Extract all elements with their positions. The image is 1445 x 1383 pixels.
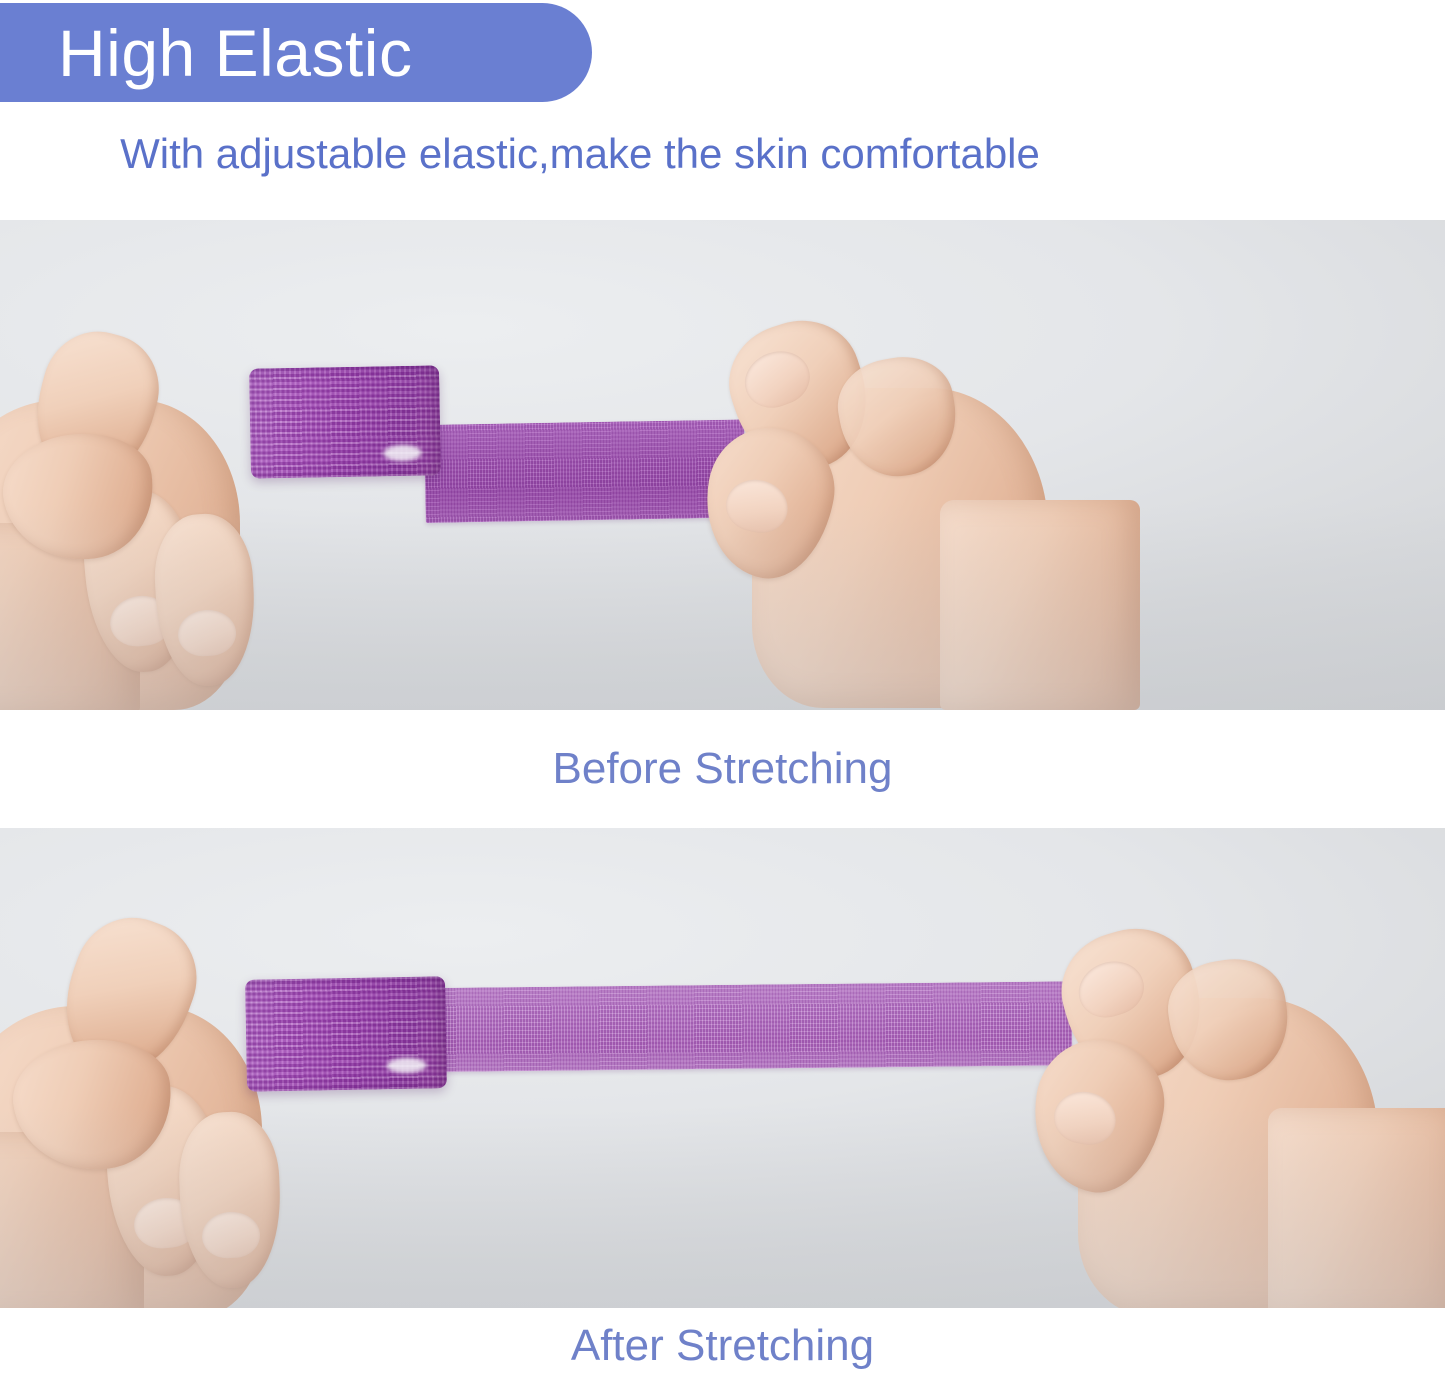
right-hand-before [700, 330, 1100, 710]
caption-band-after: After Stretching [0, 1308, 1445, 1383]
tape-roll-before [249, 365, 441, 478]
roll-core-after [386, 1057, 426, 1073]
caption-band-before: Before Stretching [0, 710, 1445, 828]
right-hand-after [1020, 936, 1420, 1308]
caption-before-label: Before Stretching [553, 744, 893, 794]
tape-strip-before [424, 419, 746, 523]
tape-roll-after [245, 976, 447, 1091]
roll-core-before [383, 445, 421, 461]
photo-panel-before [0, 220, 1445, 710]
header-section: High Elastic With adjustable elastic,mak… [0, 0, 1445, 220]
caption-after-label: After Stretching [571, 1321, 874, 1371]
tape-strip-after [432, 981, 1073, 1072]
photo-panel-after [0, 828, 1445, 1308]
badge-label: High Elastic [0, 20, 412, 86]
product-feature-page: High Elastic With adjustable elastic,mak… [0, 0, 1445, 1383]
feature-badge: High Elastic [0, 3, 592, 102]
right-wrist-after [1268, 1108, 1445, 1308]
header-subtitle: With adjustable elastic,make the skin co… [0, 128, 1160, 180]
right-wrist-before [940, 500, 1140, 710]
